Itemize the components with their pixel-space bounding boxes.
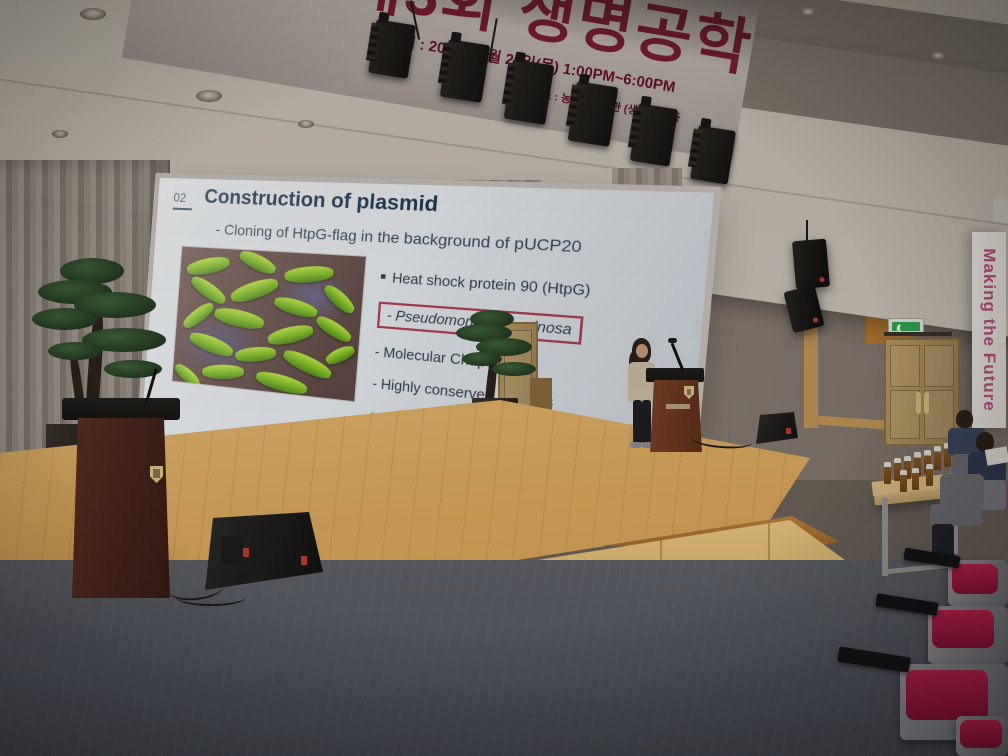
downlight-icon (298, 120, 314, 128)
auditorium-seat[interactable] (928, 606, 1008, 664)
wall-speaker-upper (792, 239, 830, 290)
list-item: Heat shock protein 90 (HtpG) (380, 270, 627, 302)
auditorium-seat[interactable] (956, 716, 1008, 756)
podium-center-nameplate (666, 404, 690, 409)
downlight-icon (800, 8, 816, 16)
bacteria-micrograph (171, 246, 367, 403)
bottle (912, 468, 919, 490)
wall-banner-logo (994, 198, 1008, 222)
bottle (934, 446, 941, 470)
door-closer-bar (884, 332, 952, 336)
wall-banner-text: Making the Future (979, 248, 999, 411)
downlight-icon (52, 130, 68, 138)
podium-center-top (646, 368, 704, 382)
slide-number: 02 (173, 190, 187, 205)
wall-banner-making-the-future: Making the Future (972, 232, 1006, 428)
table-leg (882, 498, 888, 576)
speaker-suspension-cable (806, 220, 808, 242)
auditorium-photo: 제3회 생명공학부 학술제 일시 : 2018년 9월 20일(목) 1:00P… (0, 0, 1008, 756)
downlight-icon (80, 8, 106, 20)
stage-light-icon (368, 19, 416, 79)
microphone-icon (668, 338, 677, 343)
downlight-icon (196, 90, 222, 102)
podium-left-top (62, 398, 180, 420)
bottle (900, 470, 907, 492)
slide-title: Construction of plasmid (204, 186, 440, 218)
podium-left[interactable] (72, 418, 170, 598)
audience-member (930, 470, 986, 566)
bottle (884, 462, 891, 484)
downlight-icon (930, 52, 946, 60)
stage-light-icon (440, 39, 491, 103)
monitor-cable (176, 588, 246, 606)
